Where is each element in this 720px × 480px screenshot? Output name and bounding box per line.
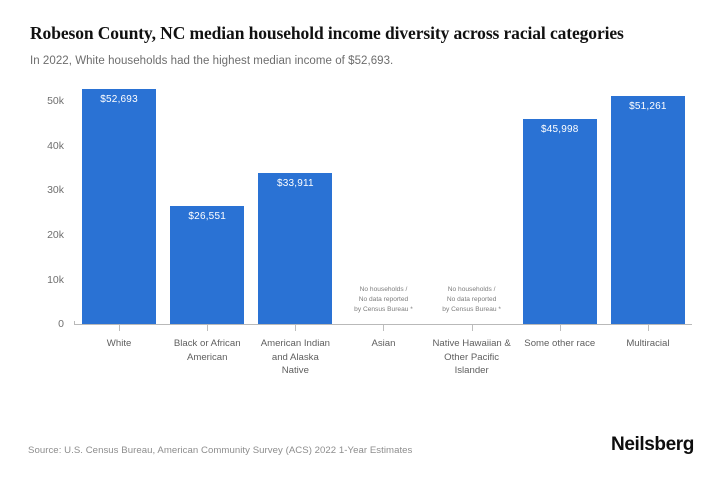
x-axis-label-line: American Indian — [251, 337, 339, 351]
chart-footer: Source: U.S. Census Bureau, American Com… — [28, 434, 694, 456]
no-data-note-line: by Census Bureau * — [422, 305, 522, 315]
x-axis-category-4: Native Hawaiian &Other PacificIslander — [428, 325, 516, 378]
bar-value-label: $26,551 — [170, 211, 244, 222]
x-axis-label-line: Other Pacific — [428, 351, 516, 365]
x-axis-label-line: Black or African — [163, 337, 251, 351]
brand-logo: Neilsberg — [611, 434, 694, 456]
x-axis-category-1: Black or AfricanAmerican — [163, 325, 251, 378]
source-note: Source: U.S. Census Bureau, American Com… — [28, 445, 412, 456]
y-axis-tick-label: 50k — [47, 95, 64, 107]
x-axis-category-6: Multiracial — [604, 325, 692, 378]
bar-slot: $45,998 — [516, 79, 604, 324]
x-axis-label-line: Native — [251, 364, 339, 378]
no-data-note: No households /No data reportedby Census… — [333, 285, 433, 314]
chart-page: Robeson County, NC median household inco… — [0, 0, 720, 480]
bar-slot: $26,551 — [163, 79, 251, 324]
x-axis-tick-mark — [472, 325, 473, 331]
x-axis-label-line: Asian — [339, 337, 427, 351]
x-axis-tick-mark — [119, 325, 120, 331]
bar-slot: $52,693 — [75, 79, 163, 324]
bar-slot: $51,261 — [604, 79, 692, 324]
x-axis-category-5: Some other race — [516, 325, 604, 378]
x-axis-label-line: American — [163, 351, 251, 365]
x-axis-tick-mark — [207, 325, 208, 331]
bar[interactable]: $33,911 — [258, 173, 332, 324]
x-axis-label-line: Multiracial — [604, 337, 692, 351]
bar-slot: No households /No data reportedby Census… — [339, 79, 427, 324]
bar[interactable]: $52,693 — [82, 89, 156, 324]
bar-value-label: $45,998 — [523, 124, 597, 135]
bar[interactable]: $26,551 — [170, 206, 244, 324]
x-axis-tick-mark — [560, 325, 561, 331]
no-data-note-line: No data reported — [333, 295, 433, 305]
y-axis-tick-label: 30k — [47, 184, 64, 196]
x-axis-tick-mark — [383, 325, 384, 331]
x-axis: WhiteBlack or AfricanAmericanAmerican In… — [75, 325, 692, 378]
bar-value-label: $52,693 — [82, 94, 156, 105]
bar[interactable]: $51,261 — [611, 96, 685, 324]
no-data-note-line: No data reported — [422, 295, 522, 305]
y-axis-tick-label: 0 — [58, 318, 64, 330]
x-axis-label-line: White — [75, 337, 163, 351]
no-data-note-line: No households / — [333, 285, 433, 295]
x-axis-label-line: Native Hawaiian & — [428, 337, 516, 351]
x-axis-category-0: White — [75, 325, 163, 378]
y-axis: 010k20k30k40k50k — [28, 79, 72, 324]
x-axis-label-line: and Alaska — [251, 351, 339, 365]
bar-chart: 010k20k30k40k50k $52,693$26,551$33,911No… — [28, 79, 692, 379]
bar-slot: $33,911 — [251, 79, 339, 324]
no-data-note-line: No households / — [422, 285, 522, 295]
page-title: Robeson County, NC median household inco… — [30, 22, 690, 45]
bar[interactable]: $45,998 — [523, 119, 597, 324]
bar-slot: No households /No data reportedby Census… — [428, 79, 516, 324]
x-axis-tick-mark — [295, 325, 296, 331]
bar-value-label: $33,911 — [258, 178, 332, 189]
y-axis-tick-label: 20k — [47, 229, 64, 241]
no-data-note-line: by Census Bureau * — [333, 305, 433, 315]
chart-subtitle: In 2022, White households had the highes… — [30, 55, 692, 67]
x-axis-label-line: Islander — [428, 364, 516, 378]
x-axis-label-line: Some other race — [516, 337, 604, 351]
x-axis-tick-mark — [648, 325, 649, 331]
no-data-note: No households /No data reportedby Census… — [422, 285, 522, 314]
bar-series: $52,693$26,551$33,911No households /No d… — [75, 79, 692, 324]
bar-value-label: $51,261 — [611, 101, 685, 112]
x-axis-category-3: Asian — [339, 325, 427, 378]
y-axis-tick-label: 40k — [47, 140, 64, 152]
x-axis-category-2: American Indianand AlaskaNative — [251, 325, 339, 378]
y-axis-tick-label: 10k — [47, 274, 64, 286]
